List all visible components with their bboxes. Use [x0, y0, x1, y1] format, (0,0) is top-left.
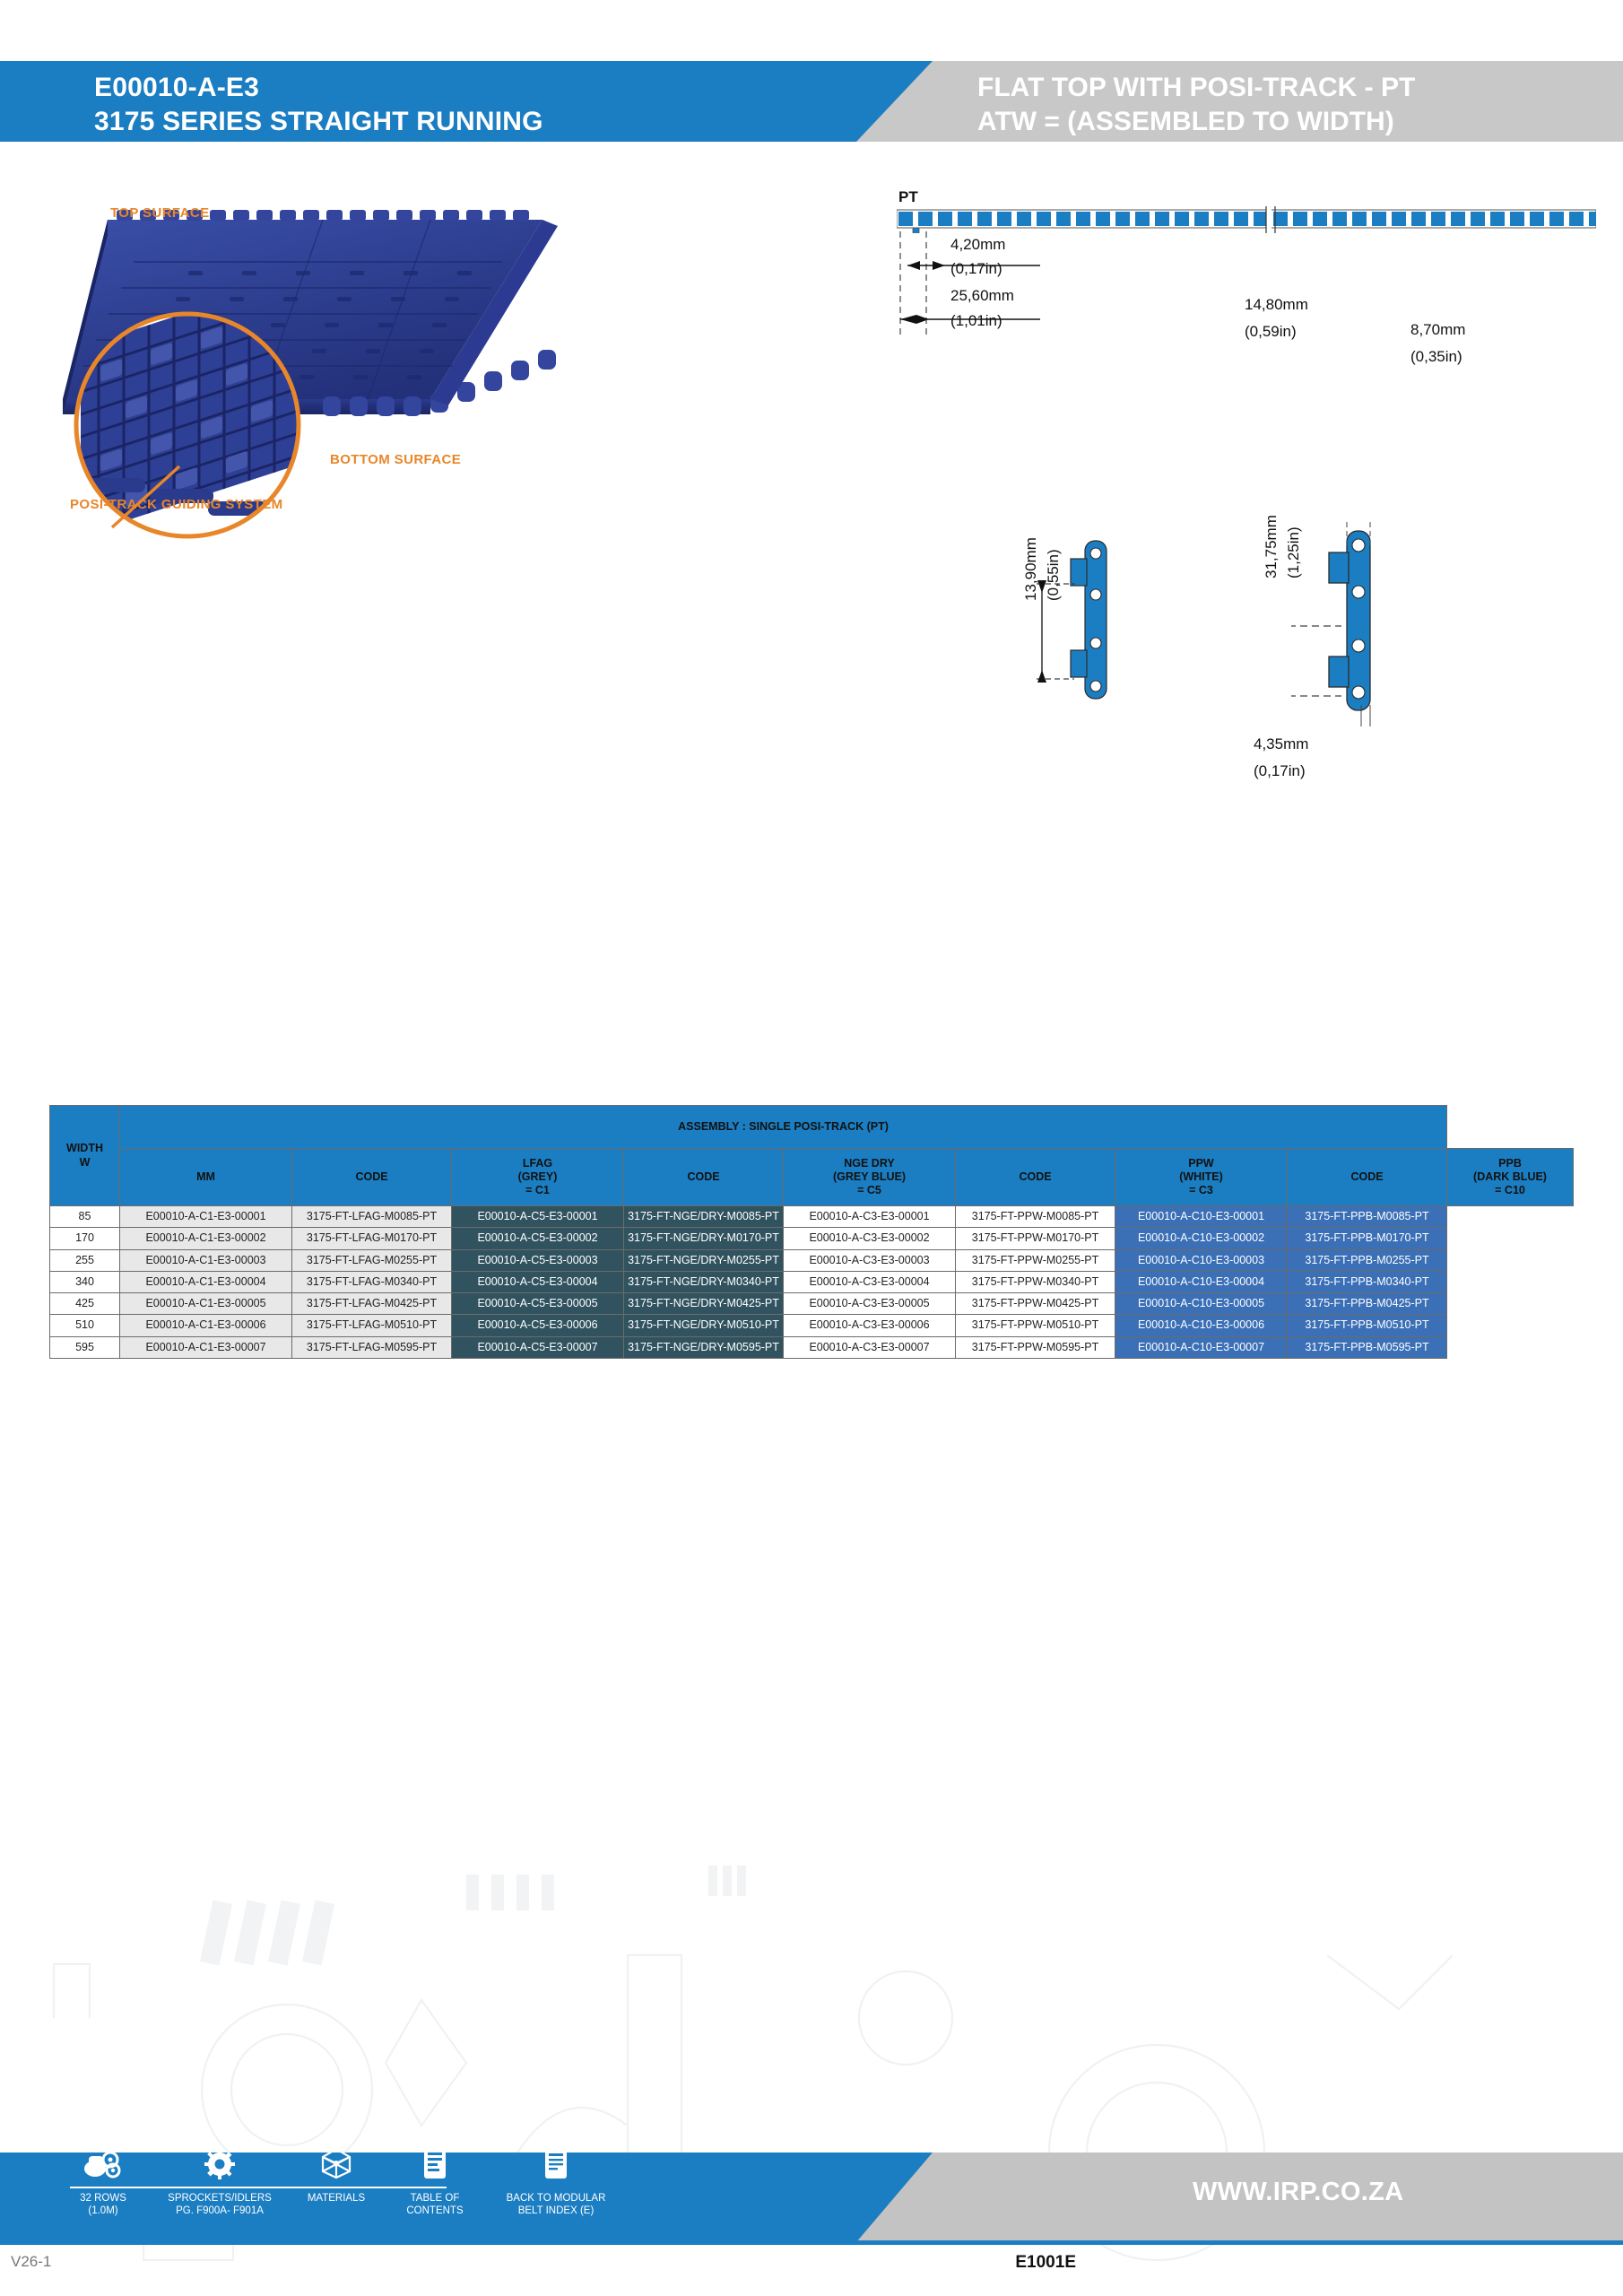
document-back-icon [484, 2144, 628, 2179]
cell-width-mm: 255 [50, 1249, 120, 1271]
cell-part-ppw: 3175-FT-PPW-M0170-PT [956, 1228, 1115, 1249]
cell-part-lfag: 3175-FT-LFAG-M0510-PT [292, 1315, 452, 1336]
cell-part-ppw: 3175-FT-PPW-M0085-PT [956, 1206, 1115, 1228]
header-lfag-l2: (GREY) [455, 1170, 621, 1184]
cell-part-nge: 3175-FT-NGE/DRY-M0510-PT [624, 1315, 784, 1336]
table-header-row-sub: MM CODE LFAG (GREY) = C1 CODE NGE DRY [50, 1149, 1574, 1206]
header-title-line1: FLAT TOP WITH POSI-TRACK - PT [977, 71, 1415, 105]
cell-width-mm: 170 [50, 1228, 120, 1249]
footer-item-document-back[interactable]: BACK TO MODULAR BELT INDEX (E) [484, 2144, 628, 2218]
cell-part-nge: 3175-FT-NGE/DRY-M0340-PT [624, 1271, 784, 1292]
header-width-line1: WIDTH [53, 1142, 117, 1155]
dim-870mm: 8,70mm [1410, 321, 1465, 339]
footer-item-materials-cube[interactable]: MATERIALS [287, 2144, 386, 2205]
header-code-c1-l1: CODE [295, 1170, 448, 1184]
table-row: 425E00010-A-C1-E3-000053175-FT-LFAG-M042… [50, 1293, 1574, 1315]
header-width-line2: W [53, 1156, 117, 1170]
cell-code-c1: E00010-A-C1-E3-00004 [120, 1271, 292, 1292]
bottom-accent-bar [0, 2240, 1623, 2245]
side-profile-drawing-right [1291, 520, 1471, 726]
pt-top-view-drawing [897, 206, 1596, 233]
label-top-surface: TOP SURFACE [110, 205, 210, 221]
header-ppb-l1: PPB [1450, 1157, 1570, 1170]
header-ppb-l2: (DARK BLUE) [1450, 1170, 1570, 1184]
cell-part-ppb: 3175-FT-PPB-M0255-PT [1288, 1249, 1447, 1271]
header-ppw-l1: PPW [1118, 1157, 1284, 1170]
header-nge-l1: NGE DRY [786, 1157, 952, 1170]
cell-code-c5: E00010-A-C5-E3-00003 [452, 1249, 624, 1271]
header-nge-l3: = C5 [786, 1184, 952, 1197]
cell-code-c5: E00010-A-C5-E3-00002 [452, 1228, 624, 1249]
dim-1480in: (0,59in) [1245, 323, 1297, 341]
cell-part-ppw: 3175-FT-PPW-M0340-PT [956, 1271, 1115, 1292]
cell-part-ppb: 3175-FT-PPB-M0510-PT [1288, 1315, 1447, 1336]
cell-part-ppw: 3175-FT-PPW-M0425-PT [956, 1293, 1115, 1315]
footer-item-label: TABLE OF CONTENTS [386, 2192, 484, 2218]
cell-width-mm: 510 [50, 1315, 120, 1336]
header-code-c10-l1: CODE [1290, 1170, 1444, 1184]
cell-part-lfag: 3175-FT-LFAG-M0595-PT [292, 1336, 452, 1358]
header-assembly: ASSEMBLY : SINGLE POSI-TRACK (PT) [120, 1106, 1447, 1149]
website-url[interactable]: WWW.IRP.CO.ZA [1193, 2178, 1403, 2207]
cell-code-c5: E00010-A-C5-E3-00006 [452, 1315, 624, 1336]
footer-nav-items: 32 ROWS (1.0M)SPROCKETS/IDLERS PG. F900A… [54, 2144, 628, 2218]
rollers-icon [54, 2144, 152, 2179]
header-code-c10: CODE [1288, 1149, 1447, 1206]
cell-code-c3: E00010-A-C3-E3-00007 [784, 1336, 956, 1358]
page-header: E00010-A-E3 3175 SERIES STRAIGHT RUNNING… [0, 61, 1623, 142]
dim-2560mm: 25,60mm [950, 287, 1014, 305]
cell-code-c10: E00010-A-C10-E3-00004 [1115, 1271, 1288, 1292]
cell-part-lfag: 3175-FT-LFAG-M0255-PT [292, 1249, 452, 1271]
cell-part-ppb: 3175-FT-PPB-M0170-PT [1288, 1228, 1447, 1249]
cell-part-lfag: 3175-FT-LFAG-M0425-PT [292, 1293, 452, 1315]
dim-435mm: 4,35mm [1254, 735, 1308, 753]
document-icon [386, 2144, 484, 2179]
label-posi-track-guiding-system: POSI-TRACK GUIDING SYSTEM [70, 497, 283, 512]
footer-item-label: SPROCKETS/IDLERS PG. F900A- F901A [152, 2192, 287, 2218]
pt-view-label: PT [898, 188, 918, 206]
cell-code-c10: E00010-A-C10-E3-00003 [1115, 1249, 1288, 1271]
header-nge-l2: (GREY BLUE) [786, 1170, 952, 1184]
cell-code-c1: E00010-A-C1-E3-00006 [120, 1315, 292, 1336]
header-lfag: LFAG (GREY) = C1 [452, 1149, 624, 1206]
header-code-c5: CODE [624, 1149, 784, 1206]
footer-item-document[interactable]: TABLE OF CONTENTS [386, 2144, 484, 2218]
cell-part-nge: 3175-FT-NGE/DRY-M0425-PT [624, 1293, 784, 1315]
header-code-c3-l1: CODE [959, 1170, 1112, 1184]
product-code: E00010-A-E3 [94, 71, 543, 105]
table-row: 510E00010-A-C1-E3-000063175-FT-LFAG-M051… [50, 1315, 1574, 1336]
dim-2560in: (1,01in) [950, 312, 1002, 330]
specification-table: WIDTH W ASSEMBLY : SINGLE POSI-TRACK (PT… [49, 1105, 1574, 1359]
cell-code-c10: E00010-A-C10-E3-00006 [1115, 1315, 1288, 1336]
header-mm-l1: MM [123, 1170, 289, 1184]
table-row: 85E00010-A-C1-E3-000013175-FT-LFAG-M0085… [50, 1206, 1574, 1228]
cell-code-c1: E00010-A-C1-E3-00003 [120, 1249, 292, 1271]
dim-1390in: (0,55in) [1045, 549, 1063, 601]
footer-item-label: BACK TO MODULAR BELT INDEX (E) [484, 2192, 628, 2218]
cell-code-c5: E00010-A-C5-E3-00001 [452, 1206, 624, 1228]
header-lfag-l1: LFAG [455, 1157, 621, 1170]
cell-code-c5: E00010-A-C5-E3-00005 [452, 1293, 624, 1315]
cell-code-c10: E00010-A-C10-E3-00005 [1115, 1293, 1288, 1315]
pt-dimension-lines [897, 231, 1166, 366]
cell-code-c10: E00010-A-C10-E3-00001 [1115, 1206, 1288, 1228]
header-code-c5-l1: CODE [627, 1170, 780, 1184]
cell-width-mm: 85 [50, 1206, 120, 1228]
cell-part-lfag: 3175-FT-LFAG-M0170-PT [292, 1228, 452, 1249]
table-row: 595E00010-A-C1-E3-000073175-FT-LFAG-M059… [50, 1336, 1574, 1358]
header-ppb: PPB (DARK BLUE) = C10 [1447, 1149, 1574, 1206]
cell-code-c10: E00010-A-C10-E3-00007 [1115, 1336, 1288, 1358]
cell-part-lfag: 3175-FT-LFAG-M0340-PT [292, 1271, 452, 1292]
product-series: 3175 SERIES STRAIGHT RUNNING [94, 105, 543, 139]
label-bottom-surface: BOTTOM SURFACE [330, 452, 461, 467]
cell-code-c3: E00010-A-C3-E3-00006 [784, 1315, 956, 1336]
header-ppw-l3: = C3 [1118, 1184, 1284, 1197]
illustration-area: TOP SURFACE BOTTOM SURFACE POSI-TRACK GU… [0, 161, 1623, 879]
cell-part-ppb: 3175-FT-PPB-M0085-PT [1288, 1206, 1447, 1228]
cell-part-ppw: 3175-FT-PPW-M0255-PT [956, 1249, 1115, 1271]
footer-item-label: MATERIALS [287, 2192, 386, 2205]
dim-420in: (0,17in) [950, 260, 1002, 278]
cell-code-c3: E00010-A-C3-E3-00005 [784, 1293, 956, 1315]
table-header-row-top: WIDTH W ASSEMBLY : SINGLE POSI-TRACK (PT… [50, 1106, 1574, 1149]
cell-code-c3: E00010-A-C3-E3-00002 [784, 1228, 956, 1249]
header-mm: MM [120, 1149, 292, 1206]
datasheet-page: E00010-A-E3 3175 SERIES STRAIGHT RUNNING… [0, 0, 1623, 2296]
page-footer: 32 ROWS (1.0M)SPROCKETS/IDLERS PG. F900A… [0, 2152, 1623, 2251]
cell-width-mm: 340 [50, 1271, 120, 1292]
dim-3175mm: 31,75mm [1263, 515, 1280, 578]
header-right-text: FLAT TOP WITH POSI-TRACK - PT ATW = (ASS… [977, 71, 1415, 140]
header-code-c1: CODE [292, 1149, 452, 1206]
cell-part-nge: 3175-FT-NGE/DRY-M0170-PT [624, 1228, 784, 1249]
cell-width-mm: 425 [50, 1293, 120, 1315]
sprocket-gear-icon [152, 2144, 287, 2179]
table-row: 170E00010-A-C1-E3-000023175-FT-LFAG-M017… [50, 1228, 1574, 1249]
dim-3175in: (1,25in) [1285, 526, 1303, 578]
cell-code-c3: E00010-A-C3-E3-00003 [784, 1249, 956, 1271]
cell-code-c1: E00010-A-C1-E3-00002 [120, 1228, 292, 1249]
dim-1480mm: 14,80mm [1245, 296, 1308, 314]
specification-table-wrapper: WIDTH W ASSEMBLY : SINGLE POSI-TRACK (PT… [49, 1105, 1574, 1359]
header-title-line2: ATW = (ASSEMBLED TO WIDTH) [977, 105, 1415, 139]
cell-code-c1: E00010-A-C1-E3-00001 [120, 1206, 292, 1228]
cell-part-ppb: 3175-FT-PPB-M0425-PT [1288, 1293, 1447, 1315]
dim-435in: (0,17in) [1254, 762, 1306, 780]
cell-part-ppw: 3175-FT-PPW-M0510-PT [956, 1315, 1115, 1336]
footer-item-label: 32 ROWS (1.0M) [54, 2192, 152, 2218]
dim-1390mm: 13,90mm [1022, 537, 1040, 601]
footer-divider-rule [70, 2187, 447, 2188]
footer-item-rollers[interactable]: 32 ROWS (1.0M) [54, 2144, 152, 2218]
cell-code-c5: E00010-A-C5-E3-00004 [452, 1271, 624, 1292]
materials-cube-icon [287, 2144, 386, 2179]
cell-code-c3: E00010-A-C3-E3-00004 [784, 1271, 956, 1292]
footer-item-sprocket-gear[interactable]: SPROCKETS/IDLERS PG. F900A- F901A [152, 2144, 287, 2218]
header-ppw: PPW (WHITE) = C3 [1115, 1149, 1288, 1206]
cell-part-ppb: 3175-FT-PPB-M0340-PT [1288, 1271, 1447, 1292]
cell-code-c5: E00010-A-C5-E3-00007 [452, 1336, 624, 1358]
header-left-text: E00010-A-E3 3175 SERIES STRAIGHT RUNNING [94, 71, 543, 140]
cell-part-nge: 3175-FT-NGE/DRY-M0255-PT [624, 1249, 784, 1271]
cell-part-lfag: 3175-FT-LFAG-M0085-PT [292, 1206, 452, 1228]
header-code-c3: CODE [956, 1149, 1115, 1206]
cell-code-c1: E00010-A-C1-E3-00007 [120, 1336, 292, 1358]
cell-code-c10: E00010-A-C10-E3-00002 [1115, 1228, 1288, 1249]
table-row: 255E00010-A-C1-E3-000033175-FT-LFAG-M025… [50, 1249, 1574, 1271]
cell-code-c3: E00010-A-C3-E3-00001 [784, 1206, 956, 1228]
cell-width-mm: 595 [50, 1336, 120, 1358]
dim-870in: (0,35in) [1410, 348, 1462, 366]
cell-part-nge: 3175-FT-NGE/DRY-M0085-PT [624, 1206, 784, 1228]
cell-part-nge: 3175-FT-NGE/DRY-M0595-PT [624, 1336, 784, 1358]
cell-part-ppb: 3175-FT-PPB-M0595-PT [1288, 1336, 1447, 1358]
header-ppw-l2: (WHITE) [1118, 1170, 1284, 1184]
cell-part-ppw: 3175-FT-PPW-M0595-PT [956, 1336, 1115, 1358]
document-id: E1001E [0, 2253, 1076, 2273]
dim-420mm: 4,20mm [950, 236, 1005, 254]
header-lfag-l3: = C1 [455, 1184, 621, 1197]
header-nge-dry: NGE DRY (GREY BLUE) = C5 [784, 1149, 956, 1206]
header-width: WIDTH W [50, 1106, 120, 1206]
cell-code-c1: E00010-A-C1-E3-00005 [120, 1293, 292, 1315]
header-ppb-l3: = C10 [1450, 1184, 1570, 1197]
table-row: 340E00010-A-C1-E3-000043175-FT-LFAG-M034… [50, 1271, 1574, 1292]
table-body: 85E00010-A-C1-E3-000013175-FT-LFAG-M0085… [50, 1206, 1574, 1359]
